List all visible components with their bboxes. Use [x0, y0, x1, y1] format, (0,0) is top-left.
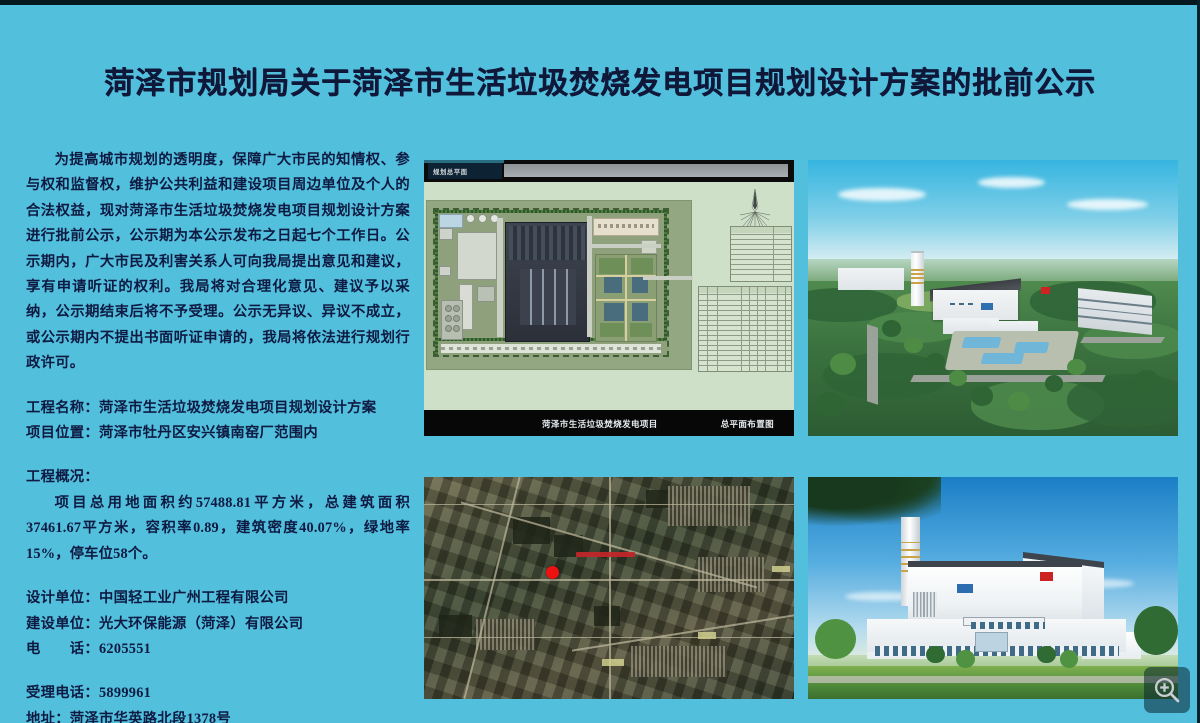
design-unit-value: 中国轻工业广州工程有限公司	[99, 590, 289, 606]
louver-facade	[913, 592, 937, 616]
site-plan-footer: 菏泽市生活垃圾焚烧发电项目 总平面布置图	[424, 410, 794, 436]
site-landscape-plaza	[595, 254, 657, 342]
hotline-value: 5899961	[99, 685, 151, 701]
project-name-value: 菏泽市生活垃圾焚烧发电项目规划设计方案	[99, 400, 376, 416]
location-marker-icon[interactable]	[546, 566, 559, 579]
construction-unit-label: 建设单位：	[26, 616, 99, 632]
design-unit-row: 设计单位：中国轻工业广州工程有限公司	[26, 586, 410, 611]
project-boundary-line	[576, 552, 635, 557]
site-north-block	[593, 218, 659, 236]
sky	[808, 160, 1178, 265]
economic-indicators-table	[730, 226, 792, 282]
project-overview-body: 项目总用地面积约57488.81平方米，总建筑面积37461.67平方米，容积率…	[26, 491, 410, 567]
site-plan-footer-project: 菏泽市生活垃圾焚烧发电项目	[542, 418, 658, 430]
site-building-west-5	[439, 266, 451, 276]
flag-icon	[1041, 287, 1050, 294]
phone-label: 电 话：	[26, 641, 99, 657]
phone-value: 6205551	[99, 641, 151, 657]
site-pool	[439, 214, 463, 228]
chimney-stack	[911, 251, 924, 306]
compass-north-icon	[738, 188, 772, 230]
site-plan-header-tab: 规划总平面	[428, 163, 502, 179]
building-schedule-table	[698, 286, 792, 372]
site-plan-footer-drawing: 总平面布置图	[721, 418, 774, 430]
site-plan-layout	[426, 200, 692, 370]
site-building-west-4	[439, 228, 453, 240]
site-parking-strip	[441, 344, 661, 353]
site-silos	[466, 214, 500, 224]
site-tanks	[441, 300, 463, 340]
site-building-west-1	[457, 232, 497, 280]
project-location-label: 项目位置：	[26, 425, 99, 441]
street-render-image[interactable]	[808, 477, 1178, 699]
magnifier-plus-icon	[1152, 675, 1182, 705]
site-plan-image[interactable]: 规划总平面	[424, 160, 794, 436]
aerial-render-image[interactable]	[808, 160, 1178, 436]
site-plan-drawing	[424, 182, 794, 410]
satellite-map-image[interactable]	[424, 477, 794, 699]
foreground-foliage	[808, 477, 941, 526]
hotline-row: 受理电话：5899961	[26, 681, 410, 706]
site-main-plant-building	[505, 222, 590, 342]
company-logo-icon	[957, 584, 973, 593]
office-building	[1078, 289, 1152, 335]
flag-icon	[1040, 572, 1053, 581]
top-edge-bar	[0, 0, 1200, 5]
site-plan-header: 规划总平面	[424, 160, 794, 182]
main-hall	[933, 290, 1018, 320]
construction-unit-value: 光大环保能源（菏泽）有限公司	[99, 616, 303, 632]
address-value: 菏泽市华英路北段1378号	[70, 711, 231, 723]
address-row: 地址：菏泽市华英路北段1378号	[26, 707, 410, 723]
front-path	[808, 676, 1178, 684]
phone-row: 电 话：6205551	[26, 637, 410, 662]
page-title: 菏泽市规划局关于菏泽市生活垃圾焚烧发电项目规划设计方案的批前公示	[0, 58, 1200, 102]
hotline-label: 受理电话：	[26, 685, 99, 701]
site-plan-header-bar	[504, 164, 788, 177]
announcement-text-column: 为提高城市规划的透明度，保障广大市民的知情权、参与权和监督权，维护公共利益和建设…	[26, 148, 410, 723]
main-entrance	[975, 632, 1008, 652]
company-logo-icon	[981, 303, 993, 310]
design-unit-label: 设计单位：	[26, 590, 99, 606]
zoom-in-button[interactable]	[1144, 667, 1190, 713]
project-name-label: 工程名称：	[26, 400, 99, 416]
site-building-west-3	[477, 286, 495, 302]
project-overview-label: 工程概况：	[26, 465, 410, 490]
project-location-row: 项目位置：菏泽市牡丹区安兴镇南窑厂范围内	[26, 421, 410, 446]
project-location-value: 菏泽市牡丹区安兴镇南窑厂范围内	[99, 425, 318, 441]
announcement-body: 为提高城市规划的透明度，保障广大市民的知情权、参与权和监督权，维护公共利益和建设…	[26, 148, 410, 377]
project-name-row: 工程名称：菏泽市生活垃圾焚烧发电项目规划设计方案	[26, 396, 410, 421]
construction-unit-row: 建设单位：光大环保能源（菏泽）有限公司	[26, 612, 410, 637]
address-label: 地址：	[26, 711, 70, 723]
